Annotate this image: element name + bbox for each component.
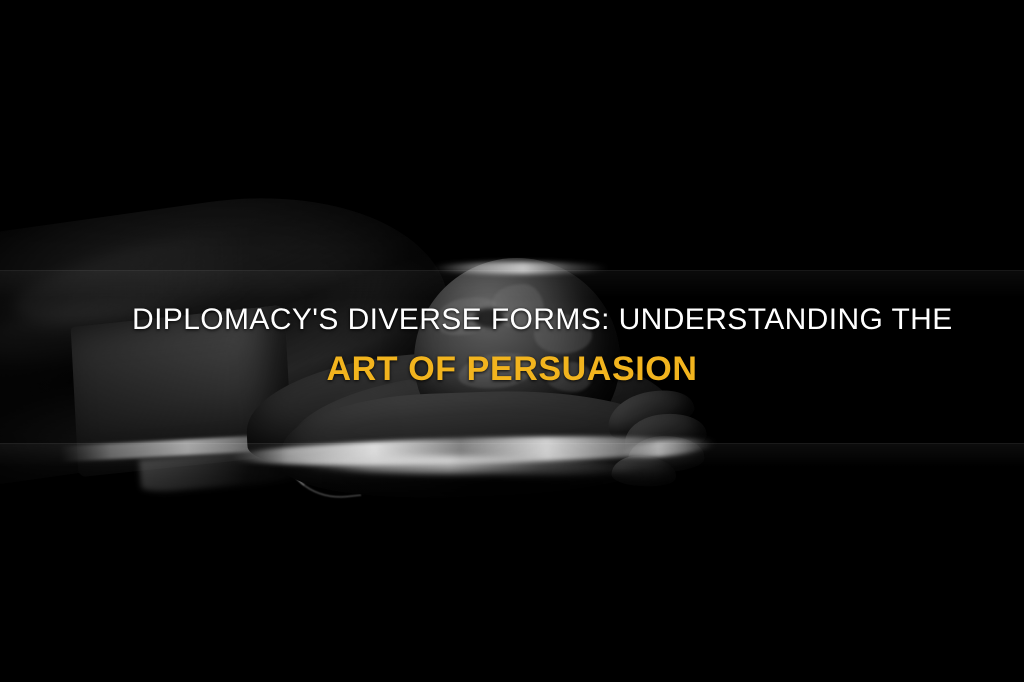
scan-seam bbox=[0, 443, 1024, 444]
scan-seam bbox=[0, 270, 1024, 271]
headline-line-2: ART OF PERSUASION bbox=[132, 349, 892, 389]
headline-line-1: DIPLOMACY'S DIVERSE FORMS: UNDERSTANDING… bbox=[132, 303, 892, 337]
scan-band bbox=[0, 443, 1024, 467]
headline-block: DIPLOMACY'S DIVERSE FORMS: UNDERSTANDING… bbox=[132, 303, 892, 389]
image-canvas: DIPLOMACY'S DIVERSE FORMS: UNDERSTANDING… bbox=[0, 0, 1024, 682]
scan-band bbox=[0, 270, 1024, 298]
